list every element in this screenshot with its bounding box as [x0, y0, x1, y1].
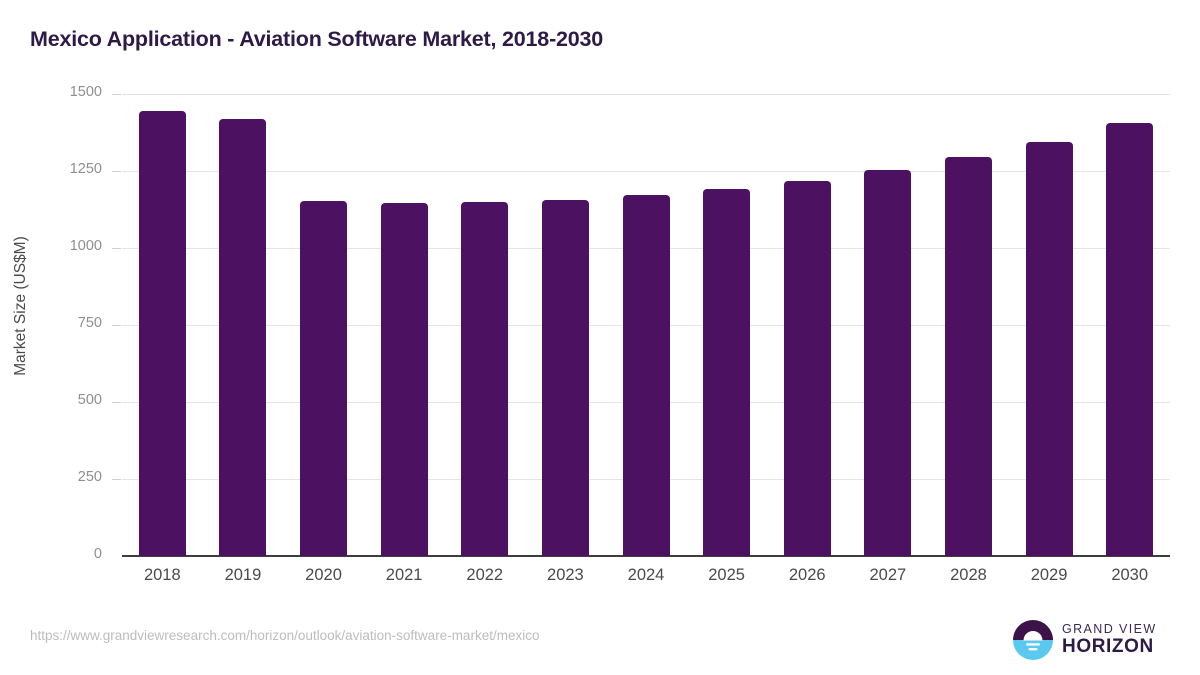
bar[interactable]: [300, 201, 347, 556]
x-tick-label: 2024: [601, 566, 691, 585]
x-tick-label: 2026: [762, 566, 852, 585]
bar-series: [122, 94, 1170, 556]
y-tick-mark: [112, 325, 121, 326]
y-tick-label: 0: [32, 546, 102, 562]
y-tick-label: 750: [32, 315, 102, 331]
y-tick-label: 250: [32, 469, 102, 485]
horizon-logo-icon: [1013, 620, 1053, 660]
x-tick-label: 2023: [520, 566, 610, 585]
bar[interactable]: [381, 203, 428, 556]
bar[interactable]: [461, 202, 508, 556]
logo-wordmark: GRAND VIEW HORIZON: [1062, 623, 1157, 656]
bar[interactable]: [864, 170, 911, 556]
bar[interactable]: [623, 195, 670, 556]
x-tick-label: 2030: [1085, 566, 1175, 585]
bar[interactable]: [542, 200, 589, 556]
logo-line-2: HORIZON: [1062, 637, 1157, 657]
logo-line-1: GRAND VIEW: [1062, 623, 1157, 636]
x-tick-label: 2028: [923, 566, 1013, 585]
x-tick-label: 2025: [682, 566, 772, 585]
x-tick-label: 2022: [440, 566, 530, 585]
bar[interactable]: [1106, 123, 1153, 556]
bar[interactable]: [1026, 142, 1073, 556]
bar[interactable]: [784, 181, 831, 556]
x-tick-label: 2018: [117, 566, 207, 585]
x-tick-label: 2021: [359, 566, 449, 585]
y-axis-title: Market Size (US$M): [12, 96, 30, 516]
y-tick-mark: [112, 402, 121, 403]
chart-container: Market Size (US$M) 025050075010001250150…: [0, 0, 1200, 675]
x-tick-label: 2020: [279, 566, 369, 585]
x-tick-label: 2029: [1004, 566, 1094, 585]
y-tick-mark: [112, 171, 121, 172]
bar[interactable]: [703, 189, 750, 556]
y-tick-label: 1000: [32, 238, 102, 254]
y-tick-label: 1250: [32, 161, 102, 177]
y-tick-mark: [112, 479, 121, 480]
x-tick-label: 2027: [843, 566, 933, 585]
source-url[interactable]: https://www.grandviewresearch.com/horizo…: [30, 628, 539, 643]
y-tick-mark: [112, 248, 121, 249]
bar[interactable]: [139, 111, 186, 556]
brand-logo[interactable]: GRAND VIEW HORIZON: [1013, 617, 1173, 663]
y-tick-label: 1500: [32, 84, 102, 100]
y-tick-mark: [112, 94, 121, 95]
x-tick-label: 2019: [198, 566, 288, 585]
bar[interactable]: [945, 157, 992, 556]
y-tick-label: 500: [32, 392, 102, 408]
bar[interactable]: [219, 119, 266, 556]
chart-page: Mexico Application - Aviation Software M…: [0, 0, 1200, 675]
